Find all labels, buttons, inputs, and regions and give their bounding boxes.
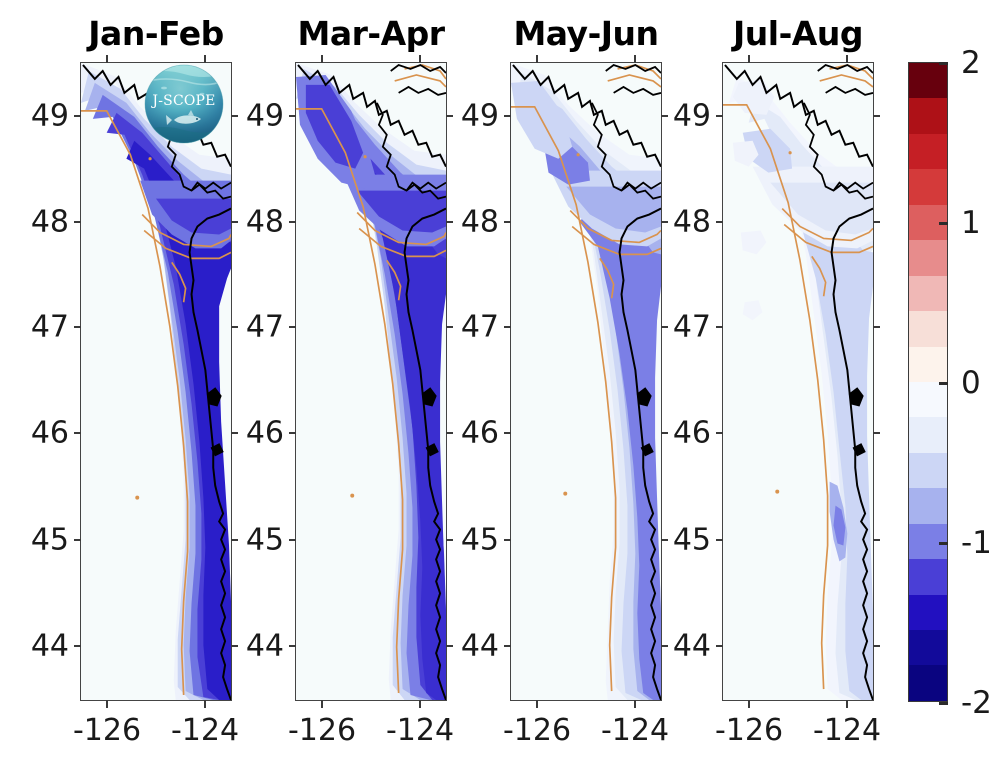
ytick-mark-right xyxy=(661,221,668,223)
ytick-label: 48 xyxy=(461,205,499,240)
colorbar-tick-label: -1 xyxy=(961,525,992,561)
ytick-mark xyxy=(716,115,723,117)
ytick-label: 45 xyxy=(461,523,499,558)
map-render-mar-apr xyxy=(296,63,446,700)
ytick-label: 46 xyxy=(31,416,69,451)
xtick-mark-top xyxy=(748,55,750,63)
ytick-mark-right xyxy=(873,326,880,328)
ytick-mark-right xyxy=(661,432,668,434)
xtick-label: -126 xyxy=(73,713,141,748)
ytick-mark-right xyxy=(873,115,880,117)
colorbar-band xyxy=(909,559,947,594)
ytick-mark-right xyxy=(231,645,238,647)
ytick-mark-right xyxy=(873,221,880,223)
ytick-mark xyxy=(74,221,81,223)
map-render-jan-feb xyxy=(81,63,231,700)
ytick-mark-right xyxy=(661,645,668,647)
ytick-label: 49 xyxy=(31,99,69,134)
colorbar-tick-label: -2 xyxy=(961,685,992,721)
svg-text:J-SCOPE: J-SCOPE xyxy=(150,93,215,109)
ytick-mark xyxy=(716,645,723,647)
panel-title-may-jun: May-Jun xyxy=(513,14,658,53)
map-area-may-jun xyxy=(510,62,662,701)
ytick-label: 49 xyxy=(246,99,284,134)
colorbar-tick-mark xyxy=(939,382,948,385)
ytick-mark-right xyxy=(446,432,453,434)
ytick-label: 44 xyxy=(673,629,711,664)
j-scope-logo: J-SCOPE xyxy=(144,64,224,144)
colorbar-band xyxy=(909,63,947,98)
map-panel-jul-aug: Jul-Aug xyxy=(722,62,874,701)
ytick-mark-right xyxy=(446,645,453,647)
xtick-mark-top xyxy=(536,55,538,63)
ytick-mark xyxy=(504,539,511,541)
ytick-mark-right xyxy=(231,221,238,223)
colorbar-band xyxy=(909,665,947,700)
ytick-mark-right xyxy=(873,432,880,434)
map-area-jan-feb: J-SCOPE xyxy=(80,62,232,701)
colorbar-band xyxy=(909,453,947,488)
colorbar-band xyxy=(909,382,947,417)
map-panel-jan-feb: Jan-Feb xyxy=(80,62,232,701)
ytick-mark xyxy=(74,432,81,434)
colorbar-tick-mark xyxy=(939,222,948,225)
colorbar-band xyxy=(909,98,947,133)
xtick-mark xyxy=(634,700,636,708)
colorbar-tick-label: 1 xyxy=(961,205,981,241)
ytick-mark xyxy=(504,115,511,117)
ytick-label: 48 xyxy=(673,205,711,240)
ytick-mark xyxy=(289,326,296,328)
xtick-label: -124 xyxy=(601,713,669,748)
colorbar-band xyxy=(909,630,947,665)
j-scope-logo-graphic: J-SCOPE xyxy=(144,64,224,144)
ytick-label: 44 xyxy=(461,629,499,664)
xtick-label: -124 xyxy=(386,713,454,748)
ytick-mark-right xyxy=(661,539,668,541)
colorbar: 2 1 0 -1 -2 xyxy=(908,62,948,702)
ytick-mark xyxy=(289,115,296,117)
ytick-mark xyxy=(504,326,511,328)
xtick-mark-top xyxy=(321,55,323,63)
panel-title-mar-apr: Mar-Apr xyxy=(297,14,444,53)
ytick-mark xyxy=(74,115,81,117)
ytick-mark xyxy=(289,432,296,434)
ytick-mark xyxy=(74,645,81,647)
ytick-mark xyxy=(716,221,723,223)
colorbar-band xyxy=(909,417,947,452)
xtick-label: -124 xyxy=(813,713,881,748)
colorbar-band xyxy=(909,488,947,523)
ytick-mark-right xyxy=(873,539,880,541)
ytick-mark xyxy=(504,645,511,647)
ytick-mark-right xyxy=(231,326,238,328)
ytick-label: 46 xyxy=(461,416,499,451)
colorbar-band xyxy=(909,276,947,311)
ytick-label: 44 xyxy=(246,629,284,664)
ytick-label: 48 xyxy=(246,205,284,240)
ytick-label: 46 xyxy=(673,416,711,451)
xtick-mark xyxy=(748,700,750,708)
colorbar-tick-mark xyxy=(939,62,948,65)
xtick-label: -126 xyxy=(503,713,571,748)
ytick-mark xyxy=(716,432,723,434)
xtick-label: -126 xyxy=(715,713,783,748)
ytick-mark-right xyxy=(446,115,453,117)
ytick-mark xyxy=(289,539,296,541)
colorbar-tick-mark xyxy=(939,542,948,545)
xtick-label: -126 xyxy=(288,713,356,748)
ytick-label: 47 xyxy=(31,310,69,345)
ytick-mark xyxy=(289,221,296,223)
map-area-mar-apr xyxy=(295,62,447,701)
ytick-mark-right xyxy=(446,221,453,223)
ytick-label: 49 xyxy=(673,99,711,134)
colorbar-band xyxy=(909,595,947,630)
map-render-jul-aug xyxy=(723,63,873,700)
ytick-mark xyxy=(289,645,296,647)
colorbar-tick-mark xyxy=(939,702,948,705)
ytick-mark-right xyxy=(661,115,668,117)
colorbar-band xyxy=(909,134,947,169)
ytick-label: 48 xyxy=(31,205,69,240)
xtick-mark xyxy=(204,700,206,708)
map-render-may-jun xyxy=(511,63,661,700)
ytick-mark-right xyxy=(446,326,453,328)
ytick-mark-right xyxy=(231,432,238,434)
map-panel-may-jun: May-Jun xyxy=(510,62,662,701)
xtick-mark xyxy=(419,700,421,708)
ytick-label: 45 xyxy=(673,523,711,558)
xtick-mark xyxy=(536,700,538,708)
panel-title-jul-aug: Jul-Aug xyxy=(733,14,863,53)
ytick-mark xyxy=(504,432,511,434)
ytick-mark xyxy=(716,326,723,328)
ytick-mark-right xyxy=(661,326,668,328)
ytick-label: 46 xyxy=(246,416,284,451)
colorbar-band xyxy=(909,311,947,346)
colorbar-band xyxy=(909,347,947,382)
xtick-mark-top xyxy=(634,55,636,63)
colorbar-tick-label: 2 xyxy=(961,45,981,81)
map-area-jul-aug xyxy=(722,62,874,701)
ytick-label: 45 xyxy=(31,523,69,558)
xtick-mark xyxy=(106,700,108,708)
ytick-label: 47 xyxy=(246,310,284,345)
ytick-mark-right xyxy=(231,115,238,117)
xtick-mark-top xyxy=(846,55,848,63)
ytick-label: 45 xyxy=(246,523,284,558)
ytick-mark xyxy=(74,326,81,328)
ytick-mark xyxy=(504,221,511,223)
panel-title-jan-feb: Jan-Feb xyxy=(88,14,223,53)
colorbar-band xyxy=(909,169,947,204)
figure-canvas: Jan-Feb xyxy=(0,0,1000,772)
ytick-mark xyxy=(74,539,81,541)
ytick-mark-right xyxy=(446,539,453,541)
ytick-mark xyxy=(716,539,723,541)
xtick-mark xyxy=(321,700,323,708)
xtick-mark xyxy=(846,700,848,708)
colorbar-tick-label: 0 xyxy=(961,365,981,401)
xtick-label: -124 xyxy=(171,713,239,748)
ytick-mark-right xyxy=(873,645,880,647)
ytick-mark-right xyxy=(231,539,238,541)
xtick-mark-top xyxy=(106,55,108,63)
ytick-label: 44 xyxy=(31,629,69,664)
colorbar-band xyxy=(909,240,947,275)
xtick-mark-top xyxy=(419,55,421,63)
ytick-label: 47 xyxy=(461,310,499,345)
xtick-mark-top xyxy=(204,55,206,63)
ytick-label: 49 xyxy=(461,99,499,134)
map-panel-mar-apr: Mar-Apr xyxy=(295,62,447,701)
ytick-label: 47 xyxy=(673,310,711,345)
